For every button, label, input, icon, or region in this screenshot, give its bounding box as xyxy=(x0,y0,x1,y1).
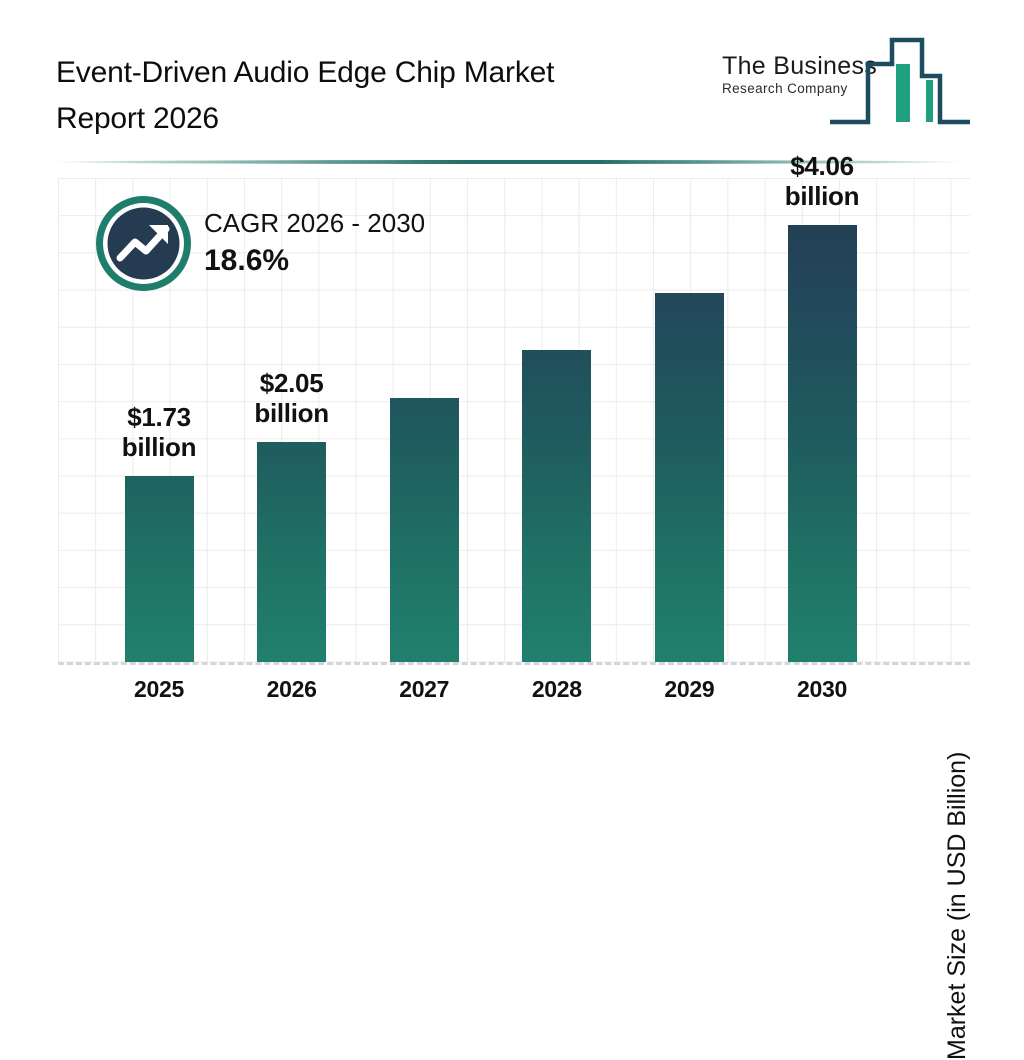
y-axis-title-text: Market Size (in USD Billion) xyxy=(943,752,972,1060)
bar-series: $1.73billion2025$2.05billion202620272028… xyxy=(0,0,1024,768)
bar-2030 xyxy=(788,225,857,662)
x-axis-label-2028: 2028 xyxy=(492,676,622,703)
bar-value-unit-2026: billion xyxy=(227,398,357,428)
bar-value-amount-2025: $1.73 xyxy=(94,402,224,432)
x-axis-label-2030: 2030 xyxy=(757,676,887,703)
bar-2028 xyxy=(522,350,591,662)
bar-value-amount-2030: $4.06 xyxy=(757,151,887,181)
bar-2025 xyxy=(125,476,194,662)
cagr-text-block: CAGR 2026 - 2030 18.6% xyxy=(204,206,425,280)
chart-page: Event-Driven Audio Edge Chip Market Repo… xyxy=(0,0,1024,768)
x-axis-label-2027: 2027 xyxy=(359,676,489,703)
trending-up-icon xyxy=(96,196,191,291)
bar-value-unit-2030: billion xyxy=(757,181,887,211)
bar-value-amount-2026: $2.05 xyxy=(227,368,357,398)
bar-value-unit-2025: billion xyxy=(94,432,224,462)
cagr-value: 18.6% xyxy=(204,242,425,280)
bar-value-label-2030: $4.06billion xyxy=(757,151,887,211)
x-axis-label-2025: 2025 xyxy=(94,676,224,703)
bar-2029 xyxy=(655,293,724,662)
x-axis-label-2029: 2029 xyxy=(624,676,754,703)
bar-value-label-2025: $1.73billion xyxy=(94,402,224,462)
cagr-period-label: CAGR 2026 - 2030 xyxy=(204,206,425,240)
bar-2026 xyxy=(257,442,326,662)
x-axis-label-2026: 2026 xyxy=(227,676,357,703)
cagr-badge: CAGR 2026 - 2030 18.6% xyxy=(96,196,516,300)
bar-value-label-2026: $2.05billion xyxy=(227,368,357,428)
bar-2027 xyxy=(390,398,459,662)
